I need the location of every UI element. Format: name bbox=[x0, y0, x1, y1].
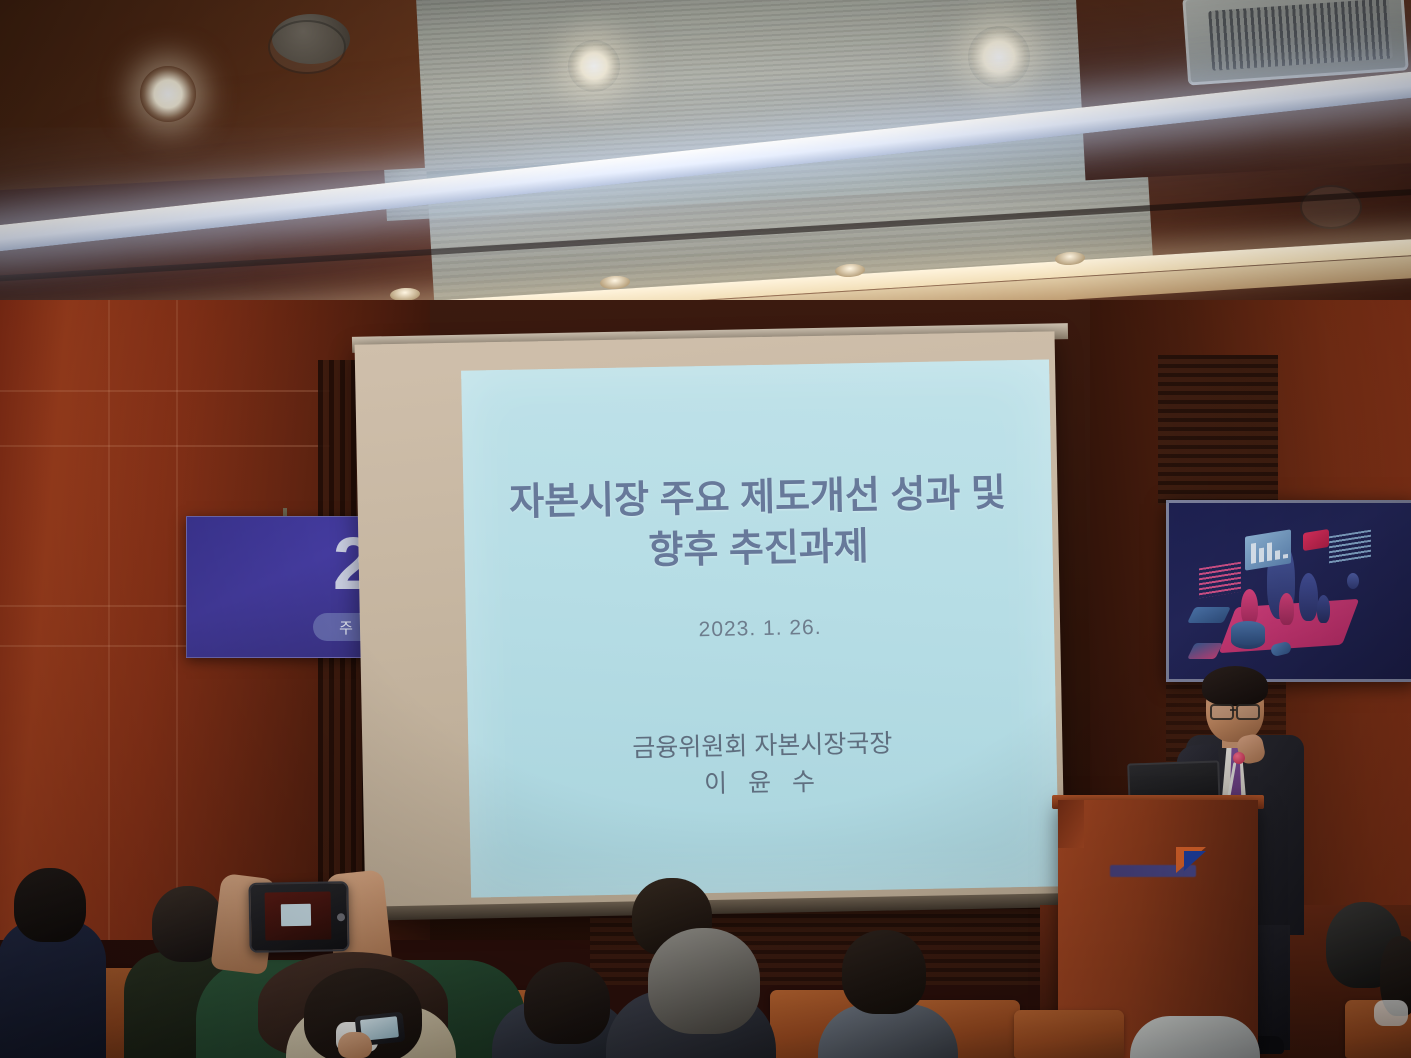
ceiling-wood-left bbox=[0, 0, 425, 192]
dataviz-bar bbox=[1251, 543, 1256, 564]
presenter-hair bbox=[1202, 666, 1268, 706]
audience-member-body bbox=[1130, 1016, 1260, 1058]
wall-seam-vertical bbox=[176, 300, 178, 940]
ceiling-recess-ring bbox=[1300, 185, 1362, 229]
auditorium-seat bbox=[1014, 1010, 1124, 1058]
audience-member-head bbox=[842, 930, 926, 1014]
face-mask bbox=[1374, 1000, 1408, 1026]
smartphone-recording[interactable] bbox=[248, 881, 349, 953]
camera-lens-icon bbox=[337, 913, 345, 921]
dataviz-bar bbox=[1267, 542, 1272, 561]
wall-seam bbox=[0, 390, 330, 392]
dataviz-cylinder bbox=[1231, 621, 1265, 645]
downlight-icon bbox=[568, 40, 620, 92]
microphone-icon bbox=[1233, 752, 1245, 764]
smartphone-viewfinder bbox=[265, 891, 332, 940]
dataviz-cone-pink bbox=[1279, 593, 1294, 625]
slide-title: 자본시장 주요 제도개선 성과 및 향후 추진과제 bbox=[463, 467, 1053, 581]
wall-seam-vertical bbox=[108, 300, 110, 940]
dataviz-dot bbox=[1347, 573, 1359, 589]
dataviz-bar bbox=[1283, 554, 1288, 559]
slide-date: 2023. 1. 26. bbox=[466, 611, 1054, 646]
hvac-grille bbox=[1208, 0, 1393, 71]
glasses-bridge bbox=[1230, 709, 1236, 711]
dataviz-cone-blue bbox=[1317, 595, 1330, 623]
podium-logo-icon bbox=[1176, 847, 1208, 875]
dataviz-bar bbox=[1275, 550, 1280, 560]
dataviz-bar-chart-card bbox=[1245, 529, 1291, 570]
audience-hand bbox=[338, 1032, 372, 1058]
audience-member-head bbox=[14, 868, 86, 942]
wall-slat-panel bbox=[1158, 355, 1278, 505]
podium-bevel bbox=[1058, 800, 1084, 848]
downlight-icon bbox=[140, 66, 196, 122]
ceiling bbox=[0, 0, 1411, 340]
glasses-icon bbox=[1210, 704, 1234, 720]
dataviz-document-pink bbox=[1199, 562, 1241, 599]
dataviz-slab bbox=[1187, 607, 1231, 623]
audience-member-head bbox=[524, 962, 610, 1044]
podium-logo-blue bbox=[1184, 851, 1206, 871]
dataviz-bar bbox=[1259, 548, 1264, 563]
projection-screen: 자본시장 주요 제도개선 성과 및 향후 추진과제 2023. 1. 26. 금… bbox=[355, 331, 1066, 916]
ceiling-recess-ring bbox=[268, 20, 346, 74]
audience-member-head-gray bbox=[648, 928, 760, 1034]
right-display-screen bbox=[1166, 500, 1411, 682]
dataviz-chip-red bbox=[1303, 529, 1329, 551]
auditorium-scene: 2 주 자본시장 주요 제도개선 성과 및 향후 bbox=[0, 0, 1411, 1058]
downlight-icon bbox=[968, 26, 1030, 88]
smartphone-slide-preview bbox=[281, 904, 311, 927]
wall-seam bbox=[0, 445, 330, 447]
dataviz-document-blue bbox=[1329, 530, 1371, 565]
dataviz-cone-pink bbox=[1241, 589, 1258, 625]
left-banner: 2 주 bbox=[186, 516, 378, 658]
slide-title-line2: 향후 추진과제 bbox=[464, 519, 1053, 582]
dataviz-cone-medium bbox=[1299, 573, 1318, 621]
glasses-icon bbox=[1236, 704, 1260, 720]
presentation-slide: 자본시장 주요 제도개선 성과 및 향후 추진과제 2023. 1. 26. 금… bbox=[461, 359, 1059, 897]
dataviz-tablet bbox=[1187, 643, 1223, 659]
